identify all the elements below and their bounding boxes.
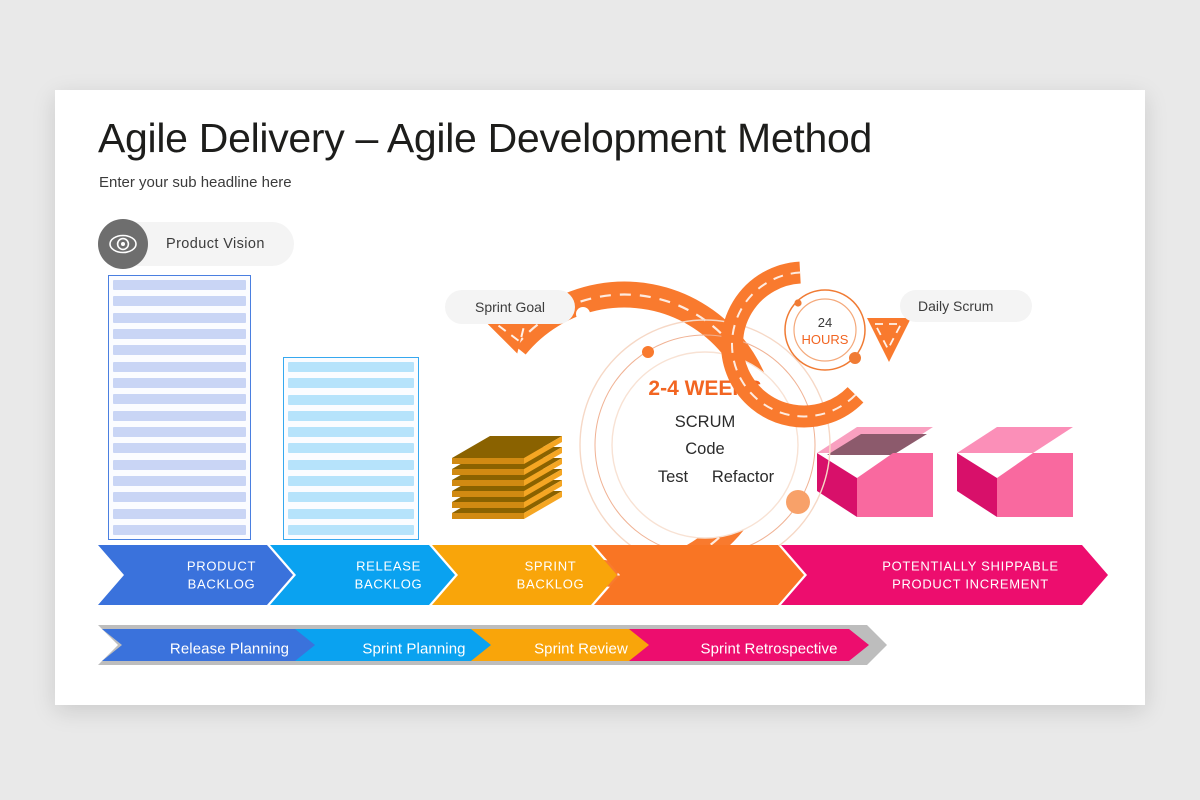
daily-ring-inner — [794, 299, 856, 361]
chevron-shape — [594, 545, 804, 605]
ceremony-arrow[interactable]: Sprint Planning — [295, 629, 493, 669]
process-chevron[interactable] — [594, 545, 804, 605]
chevron-shape — [432, 545, 617, 605]
scrum-cycle-diagram: 2-4 WEEKS SCRUM Code Test Refactor 24 HO… — [55, 90, 1145, 705]
ceremony-arrow-shape — [629, 629, 869, 661]
daily-orbit-dot-top — [794, 299, 801, 306]
chevron-shape — [781, 545, 1108, 605]
ceremony-arrow-shape — [471, 629, 651, 661]
process-chevron[interactable]: POTENTIALLY SHIPPABLE PRODUCT INCREMENT — [781, 545, 1108, 605]
ceremony-arrow-bar: Release PlanningSprint PlanningSprint Re… — [98, 625, 908, 665]
ceremony-arrow-shape — [295, 629, 493, 661]
sprint-goal-label: Sprint Goal — [475, 299, 545, 315]
daily-number: 24 — [818, 315, 832, 330]
process-chevron[interactable]: RELEASE BACKLOG — [270, 545, 455, 605]
daily-scrum-arrowhead — [867, 318, 911, 362]
daily-scrum-label: Daily Scrum — [918, 298, 993, 314]
sprint-refactor: Refactor — [712, 468, 775, 486]
sprint-test: Test — [658, 468, 689, 486]
sprint-framework: SCRUM — [675, 413, 736, 431]
process-chevron[interactable]: SPRINT BACKLOG — [432, 545, 617, 605]
sprint-goal-badge[interactable]: Sprint Goal — [445, 290, 575, 324]
ceremony-arrow-shape — [102, 629, 317, 661]
process-chevron-band: PRODUCT BACKLOGRELEASE BACKLOGSPRINT BAC… — [98, 545, 1108, 605]
daily-scrum-badge[interactable]: Daily Scrum — [900, 290, 1032, 322]
chevron-shape — [270, 545, 455, 605]
process-chevron[interactable]: PRODUCT BACKLOG — [98, 545, 293, 605]
sprint-orbit-dot-top — [642, 346, 654, 358]
daily-unit: HOURS — [802, 332, 849, 347]
ceremony-arrow[interactable]: Sprint Retrospective — [629, 629, 869, 669]
sprint-goal-node — [576, 307, 590, 321]
daily-orbit-dot-bottom — [849, 352, 861, 364]
chevron-shape — [98, 545, 293, 605]
ceremony-arrow[interactable]: Sprint Review — [471, 629, 651, 669]
sprint-code: Code — [685, 440, 724, 458]
sprint-orbit-dot-bottom — [786, 490, 810, 514]
slide-canvas: Agile Delivery – Agile Development Metho… — [55, 90, 1145, 705]
ceremony-arrow[interactable]: Release Planning — [102, 629, 317, 669]
